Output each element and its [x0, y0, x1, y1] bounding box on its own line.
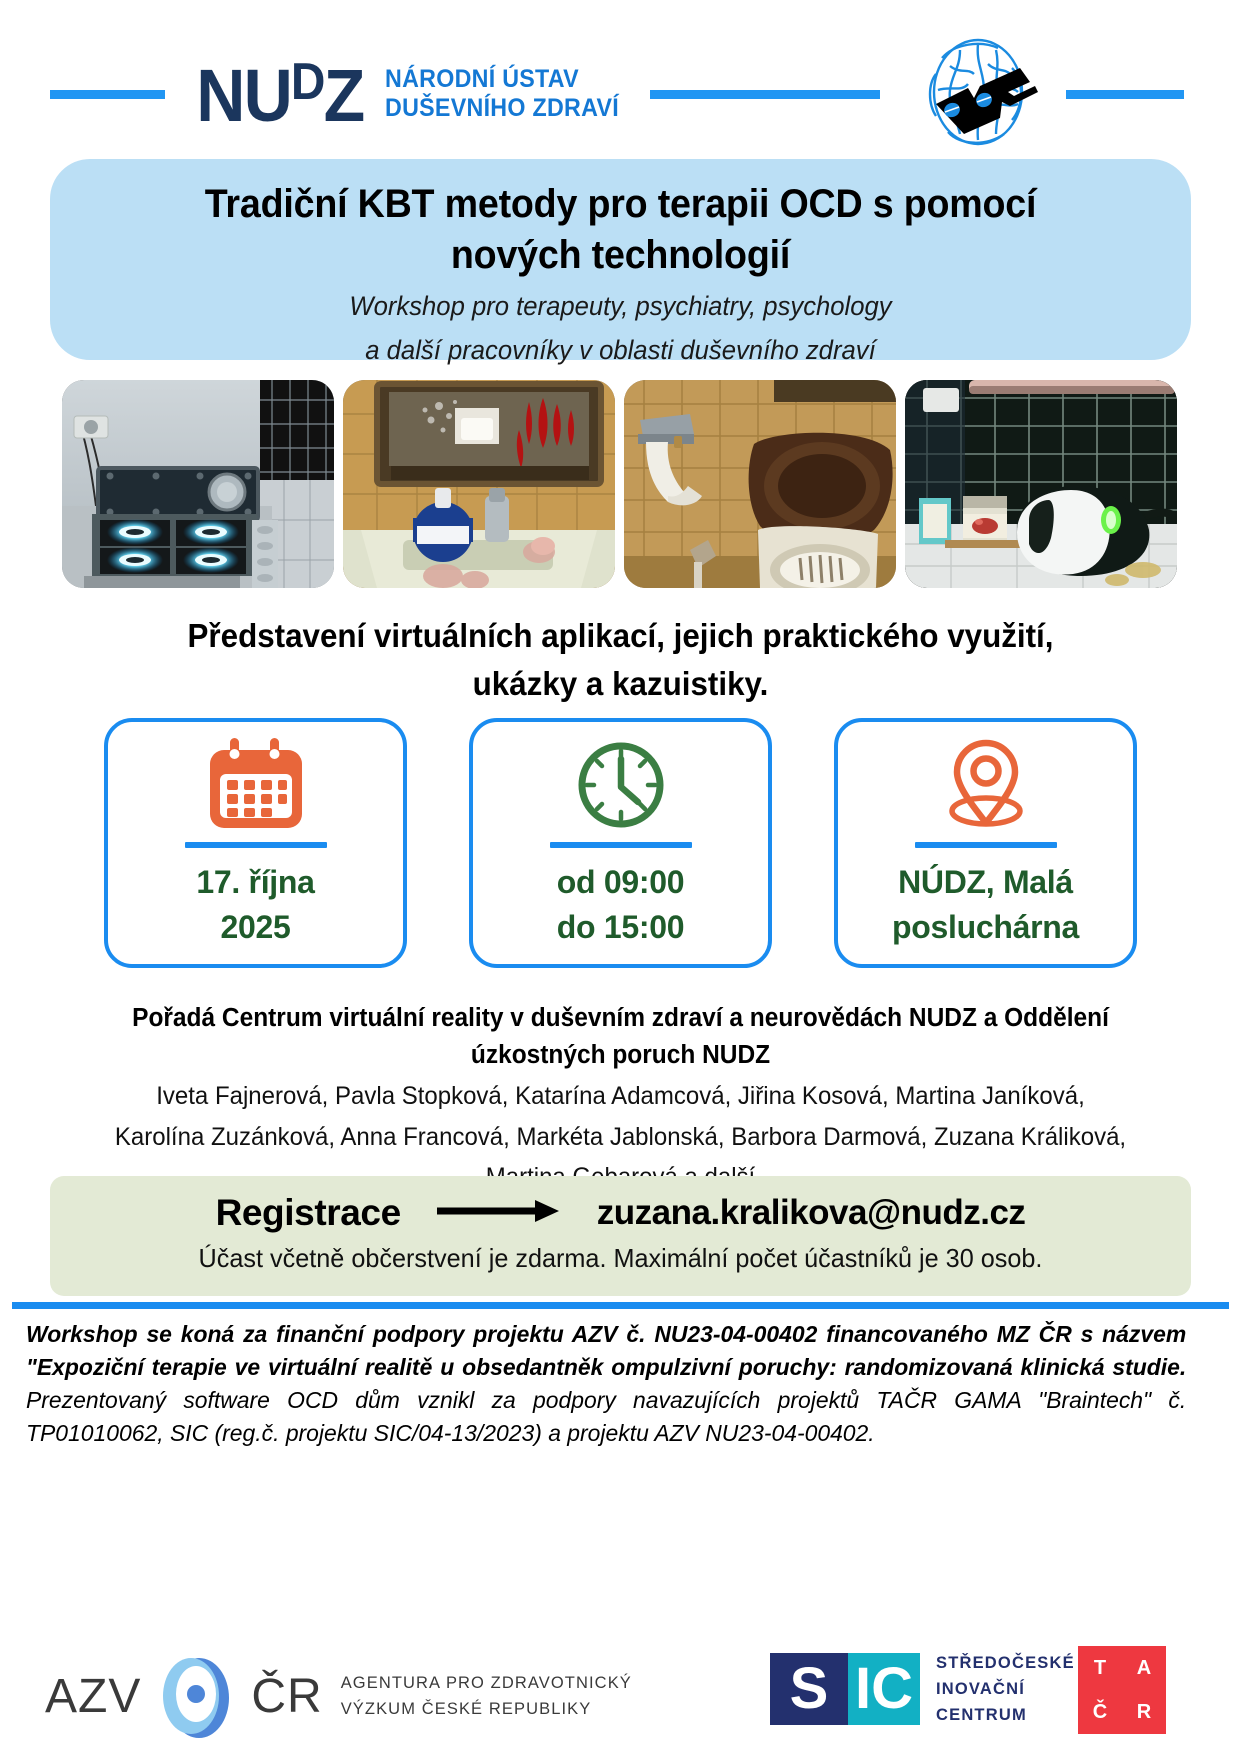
institute-line-2: DUŠEVNÍHO ZDRAVÍ — [385, 94, 619, 124]
registration-note: Účast včetně občerstvení je zdarma. Maxi… — [106, 1243, 1135, 1274]
card-divider — [185, 842, 327, 848]
sic-words: STŘEDOČESKÉ INOVAČNÍ CENTRUM — [936, 1650, 1075, 1728]
azv-logo: AZV ČR AGENTURA PRO ZDRAVOTNICKÝ VÝZKUM … — [45, 1646, 632, 1747]
sic-word-line-3: CENTRUM — [936, 1702, 1075, 1728]
poster-subtitle-line-1: Workshop pro terapeuty, psychiatry, psyc… — [136, 289, 1106, 325]
event-date-line-2: 2025 — [196, 905, 314, 950]
card-divider — [550, 842, 692, 848]
poster-title-line-1: Tradiční KBT metody pro terapii OCD s po… — [141, 179, 1101, 230]
vr-kitchen-kettle — [905, 380, 1177, 588]
vr-toilet-paper — [624, 380, 896, 588]
sponsor-logo-bar: AZV ČR AGENTURA PRO ZDRAVOTNICKÝ VÝZKUM … — [0, 1636, 1241, 1746]
institute-line-1: NÁRODNÍ ÚSTAV — [385, 65, 619, 95]
brain-vr-headset-icon — [902, 34, 1052, 154]
vr-screenshot-gallery — [62, 380, 1180, 588]
event-date-line-1: 17. října — [196, 860, 314, 905]
title-banner: Tradiční KBT metody pro terapii OCD s po… — [50, 159, 1191, 360]
event-time-line-1: od 09:00 — [557, 860, 684, 905]
tacr-logo: T A Č R — [1078, 1646, 1166, 1734]
nudz-logo: NUDZ NÁRODNÍ ÚSTAV DUŠEVNÍHO ZDRAVÍ — [189, 59, 636, 130]
funding-italic-part: Prezentovaný software OCD dům vznikl za … — [26, 1387, 1186, 1446]
tacr-letter-a: A — [1137, 1657, 1151, 1680]
funding-bold-part: Workshop se koná za finanční podpory pro… — [26, 1321, 1186, 1380]
sic-logo: S IC STŘEDOČESKÉ INOVAČNÍ CENTRUM — [770, 1650, 1075, 1728]
organizer-text: Pořadá Centrum virtuální reality v dušev… — [78, 1000, 1164, 1073]
azv-country: ČR — [251, 1669, 322, 1724]
event-location-line-1: NÚDZ, Malá — [892, 860, 1079, 905]
footer-divider — [12, 1302, 1229, 1309]
nudz-institute-name: NÁRODNÍ ÚSTAV DUŠEVNÍHO ZDRAVÍ — [385, 65, 619, 124]
poster-root: NUDZ NÁRODNÍ ÚSTAV DUŠEVNÍHO ZDRAVÍ — [0, 0, 1241, 1755]
nudz-wordmark-sup: D — [291, 53, 324, 111]
section-heading-line-2: ukázky a kazuistiky. — [88, 660, 1153, 708]
event-location-line-2: posluchárna — [892, 905, 1079, 950]
tacr-letter-t: T — [1094, 1657, 1106, 1680]
sic-word-line-1: STŘEDOČESKÉ — [936, 1650, 1075, 1676]
organizer-line-2: úzkostných poruch NUDZ — [78, 1037, 1164, 1074]
vr-bathroom-sink-mirror — [343, 380, 615, 588]
event-date-card: 17. října 2025 — [104, 718, 407, 968]
nudz-wordmark-pre: NU — [196, 54, 291, 137]
authors-line-2: Karolína Zuzánková, Anna Francová, Marké… — [78, 1117, 1164, 1158]
poster-title-line-2: nových technologií — [141, 230, 1101, 281]
event-time-text: od 09:00 do 15:00 — [557, 860, 684, 951]
organizer-line-1: Pořadá Centrum virtuální reality v dušev… — [78, 1000, 1164, 1037]
funding-statement: Workshop se koná za finanční podpory pro… — [26, 1318, 1186, 1450]
clock-icon — [572, 740, 670, 830]
azv-subtitle-line-2: VÝZKUM ČESKÉ REPUBLIKY — [341, 1697, 632, 1723]
right-arrow-icon — [435, 1198, 563, 1229]
calendar-icon — [204, 740, 308, 830]
map-pin-icon — [937, 740, 1035, 830]
authors-line-1: Iveta Fajnerová, Pavla Stopková, Katarín… — [78, 1076, 1164, 1117]
vr-kitchen-gas-stove — [62, 380, 334, 588]
nudz-wordmark: NUDZ — [196, 59, 363, 130]
azv-mark: AZV — [45, 1669, 141, 1724]
poster-subtitle-line-2: a další pracovníky v oblasti duševního z… — [136, 333, 1106, 369]
section-heading: Představení virtuálních aplikací, jejich… — [88, 612, 1153, 708]
event-date-text: 17. října 2025 — [196, 860, 314, 951]
sic-word-line-2: INOVAČNÍ — [936, 1676, 1075, 1702]
section-heading-line-1: Představení virtuálních aplikací, jejich… — [88, 612, 1153, 660]
poster-header: NUDZ NÁRODNÍ ÚSTAV DUŠEVNÍHO ZDRAVÍ — [0, 34, 1241, 154]
event-location-text: NÚDZ, Malá posluchárna — [892, 860, 1079, 951]
header-rule-middle — [650, 90, 880, 99]
card-divider — [915, 842, 1057, 848]
azv-subtitle: AGENTURA PRO ZDRAVOTNICKÝ VÝZKUM ČESKÉ R… — [341, 1671, 632, 1722]
header-rule-left — [50, 90, 165, 99]
header-rule-right — [1066, 90, 1184, 99]
sic-block-ic: IC — [848, 1653, 920, 1725]
event-time-line-2: do 15:00 — [557, 905, 684, 950]
sic-block-s: S — [770, 1653, 848, 1725]
registration-box: Registrace zuzana.kralikova@nudz.cz Účas… — [50, 1176, 1191, 1296]
event-info-cards: 17. října 2025 od 09:00 — [104, 718, 1137, 968]
registration-row: Registrace zuzana.kralikova@nudz.cz — [90, 1192, 1151, 1234]
azv-subtitle-line-1: AGENTURA PRO ZDRAVOTNICKÝ — [341, 1671, 632, 1697]
event-time-card: od 09:00 do 15:00 — [469, 718, 772, 968]
tacr-letter-c: Č — [1093, 1701, 1107, 1724]
registration-label: Registrace — [216, 1192, 401, 1234]
nudz-wordmark-post: Z — [324, 54, 364, 137]
azv-eye-icon — [151, 1646, 241, 1747]
event-location-card: NÚDZ, Malá posluchárna — [834, 718, 1137, 968]
registration-email[interactable]: zuzana.kralikova@nudz.cz — [597, 1193, 1026, 1233]
tacr-letter-r: R — [1137, 1701, 1151, 1724]
